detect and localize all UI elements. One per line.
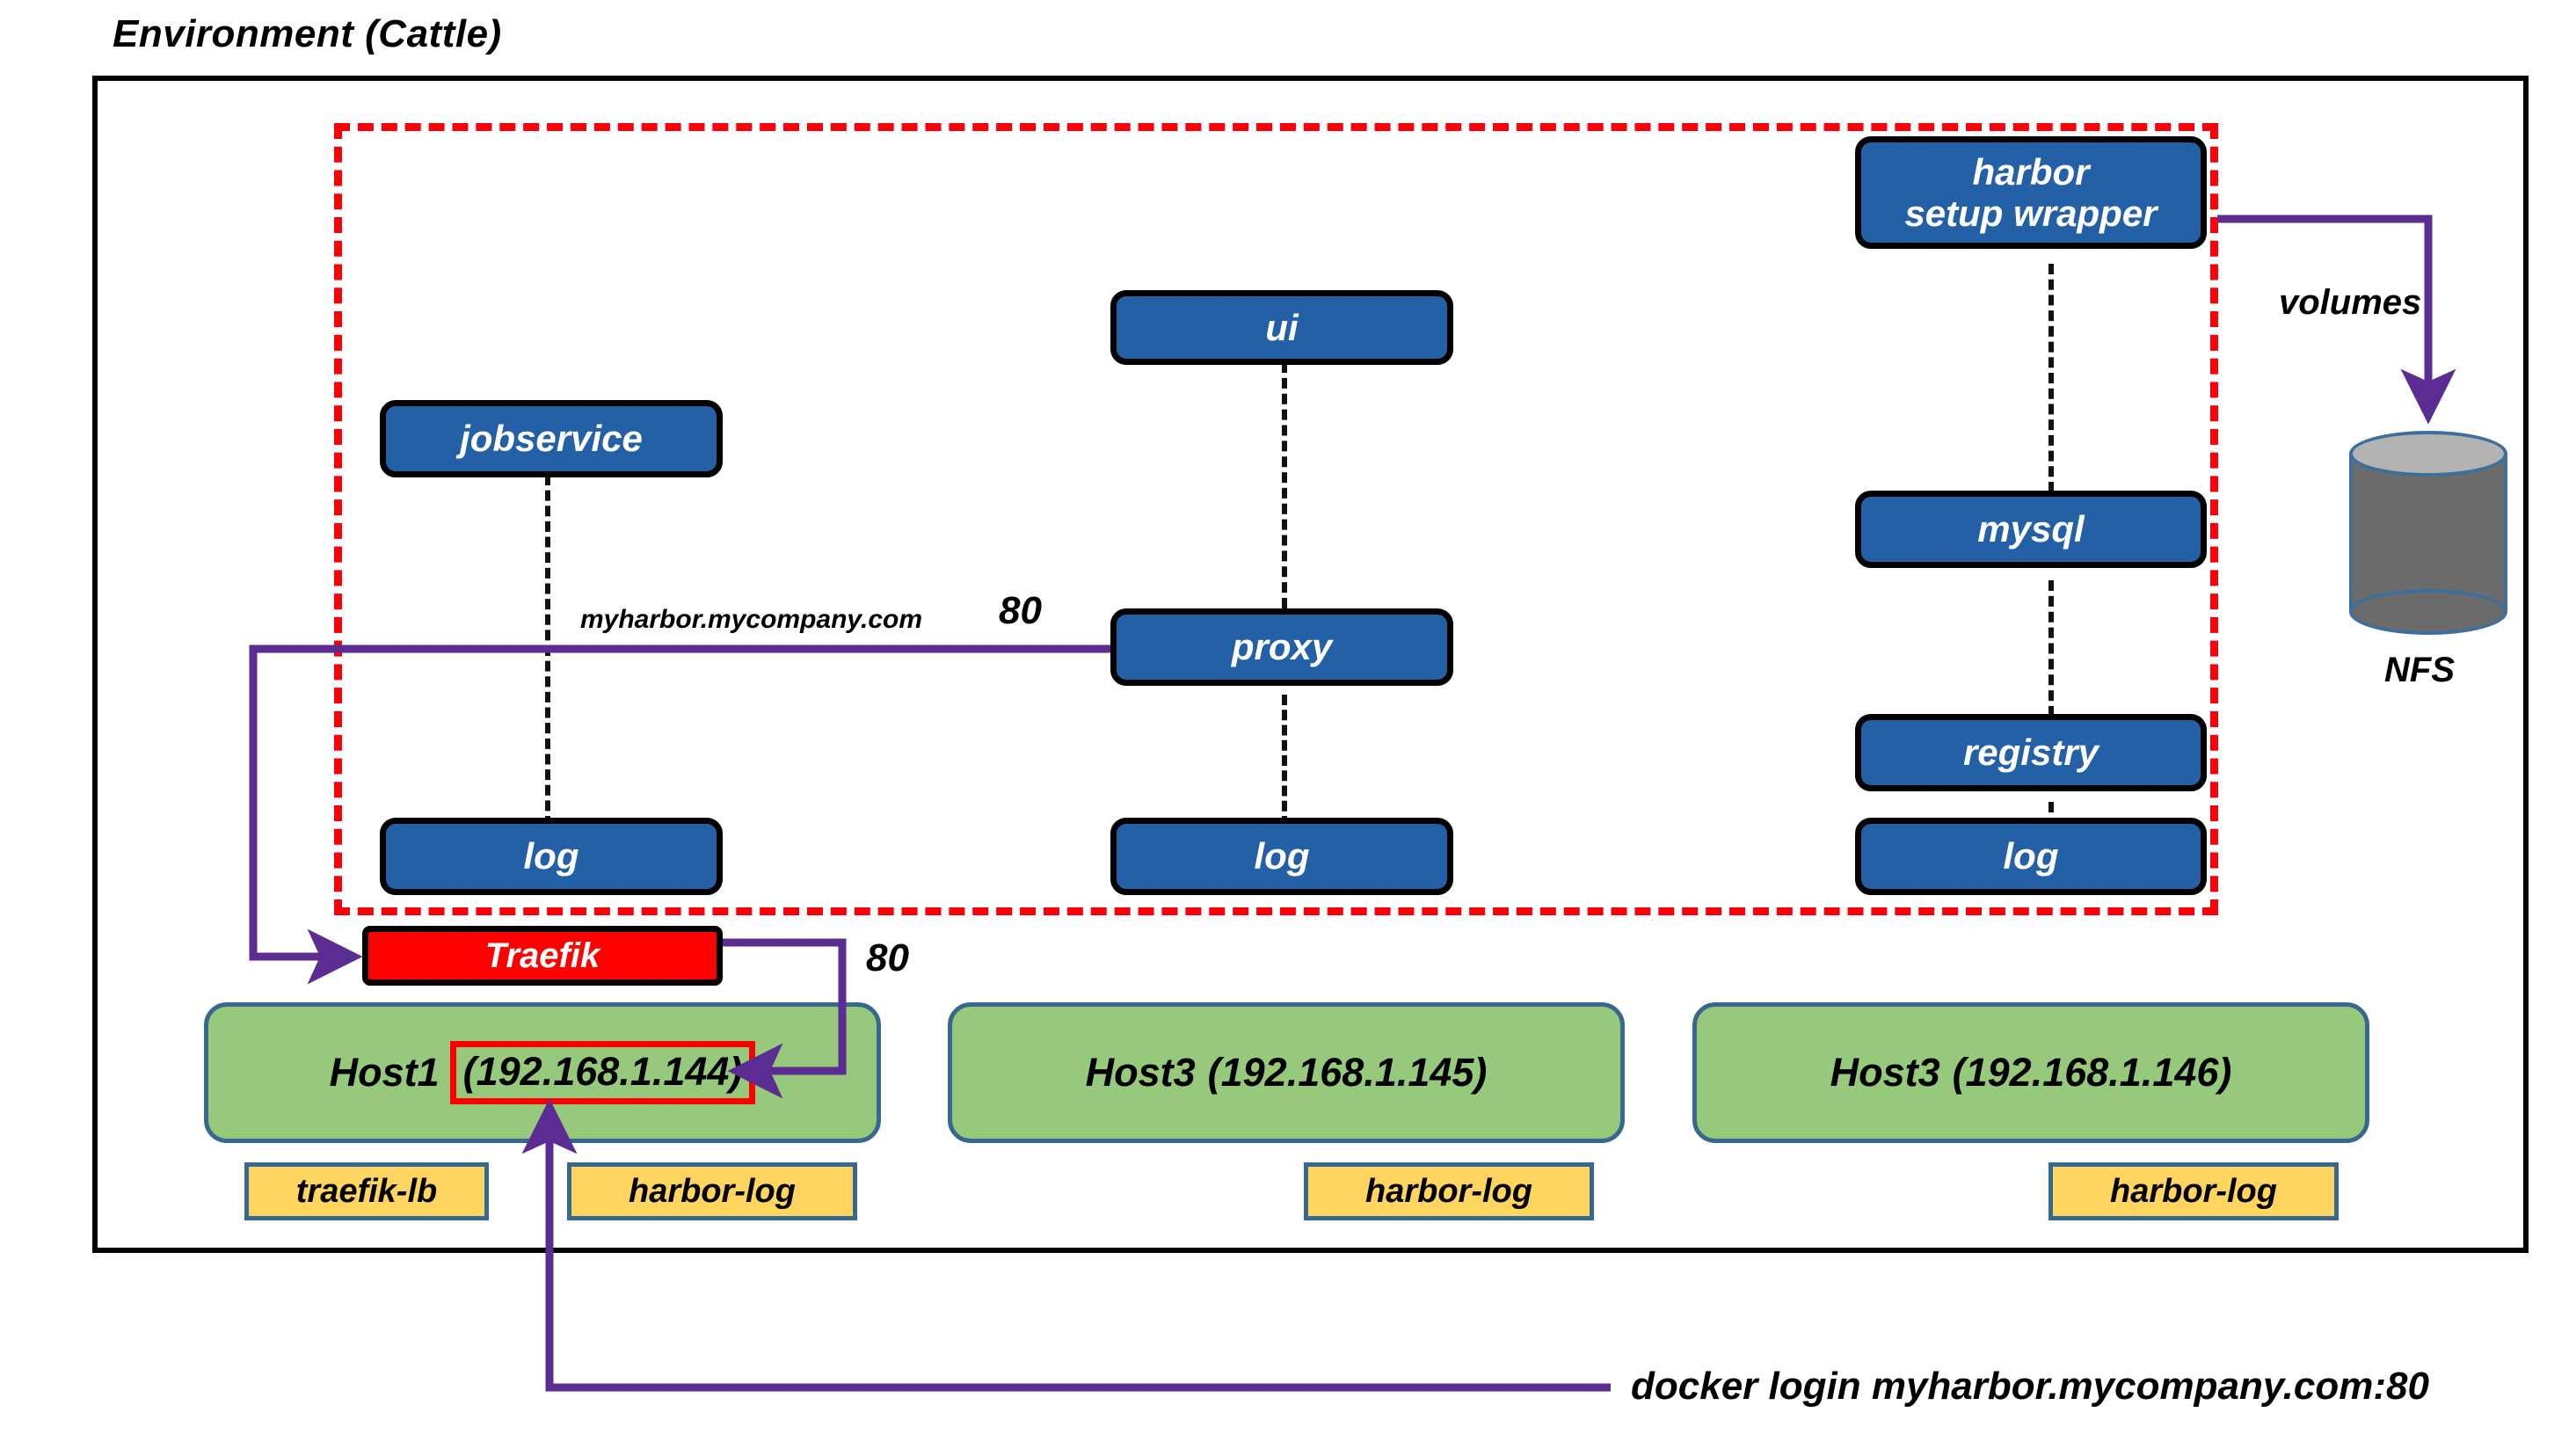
service-ui-label: ui — [1265, 308, 1298, 347]
service-harbor-setup-wrapper[interactable]: harbor setup wrapper — [1855, 136, 2207, 249]
nfs-cylinder-top — [2349, 431, 2507, 477]
connector-wrapper-mysql — [2048, 264, 2054, 492]
host-3-name: Host3 — [1830, 1050, 1940, 1096]
environment-title: Environment (Cattle) — [113, 12, 502, 56]
nfs-storage-cylinder — [2349, 431, 2507, 642]
service-jobservice-label: jobservice — [460, 419, 643, 458]
host-2-ip: (192.168.1.145) — [1208, 1050, 1488, 1096]
volumes-label: volumes — [2279, 283, 2421, 323]
nfs-label: NFS — [2384, 651, 2455, 690]
host-box-2[interactable]: Host3 (192.168.1.145) — [948, 1002, 1625, 1143]
service-harbor-setup-wrapper-label-line1: harbor — [1972, 151, 2089, 193]
ingress-port-label: 80 — [999, 589, 1042, 633]
traefik-load-balancer[interactable]: Traefik — [362, 926, 723, 986]
service-registry[interactable]: registry — [1855, 714, 2207, 791]
service-proxy[interactable]: proxy — [1110, 608, 1453, 686]
egress-port-label: 80 — [866, 936, 909, 980]
host-1-ip-highlight: (192.168.1.144) — [450, 1041, 756, 1104]
host-box-3[interactable]: Host3 (192.168.1.146) — [1692, 1002, 2369, 1143]
service-jobservice[interactable]: jobservice — [380, 400, 723, 477]
host-3-ip: (192.168.1.146) — [1953, 1050, 2232, 1096]
service-log-left[interactable]: log — [380, 818, 723, 895]
service-log-middle-label: log — [1255, 836, 1310, 876]
stack-tag-traefik-lb-label: traefik-lb — [296, 1173, 437, 1211]
stack-tag-harbor-log-host3[interactable]: harbor-log — [2048, 1162, 2339, 1220]
connector-proxy-log — [1282, 695, 1287, 826]
service-log-right[interactable]: log — [1855, 818, 2207, 895]
stack-tag-harbor-log-host3-label: harbor-log — [2110, 1173, 2277, 1211]
host-3-label: Host3 (192.168.1.146) — [1830, 1050, 2232, 1096]
nfs-cylinder-body — [2349, 454, 2507, 612]
service-mysql[interactable]: mysql — [1855, 491, 2207, 568]
host-box-1[interactable]: Host1 (192.168.1.144) — [204, 1002, 881, 1143]
service-harbor-setup-wrapper-label-line2: setup wrapper — [1904, 193, 2157, 234]
service-ui[interactable]: ui — [1110, 290, 1453, 365]
service-proxy-label: proxy — [1232, 627, 1332, 666]
service-log-middle[interactable]: log — [1110, 818, 1453, 895]
diagram-canvas: Environment (Cattle) jobservice log ui p… — [0, 0, 2576, 1449]
hostname-label: myharbor.mycompany.com — [580, 605, 922, 635]
host-2-label: Host3 (192.168.1.145) — [1086, 1050, 1488, 1096]
service-log-right-label: log — [2004, 836, 2059, 876]
stack-tag-harbor-log-host1[interactable]: harbor-log — [567, 1162, 857, 1220]
host-2-name: Host3 — [1086, 1050, 1196, 1096]
connector-ui-proxy — [1282, 362, 1287, 608]
nfs-cylinder-bottom — [2349, 589, 2507, 635]
service-log-left-label: log — [524, 836, 579, 876]
connector-mysql-registry — [2048, 580, 2054, 717]
docker-login-command: docker login myharbor.mycompany.com:80 — [1631, 1365, 2429, 1409]
stack-tag-harbor-log-host2[interactable]: harbor-log — [1304, 1162, 1594, 1220]
traefik-label: Traefik — [485, 936, 600, 976]
host-1-name: Host1 — [330, 1050, 440, 1096]
stack-tag-harbor-log-host1-label: harbor-log — [629, 1173, 796, 1211]
service-mysql-label: mysql — [1977, 509, 2084, 549]
service-registry-label: registry — [1963, 732, 2099, 772]
stack-tag-traefik-lb[interactable]: traefik-lb — [244, 1162, 489, 1220]
connector-jobservice-log — [545, 475, 550, 826]
host-1-label: Host1 (192.168.1.144) — [330, 1041, 756, 1104]
stack-tag-harbor-log-host2-label: harbor-log — [1365, 1173, 1532, 1211]
